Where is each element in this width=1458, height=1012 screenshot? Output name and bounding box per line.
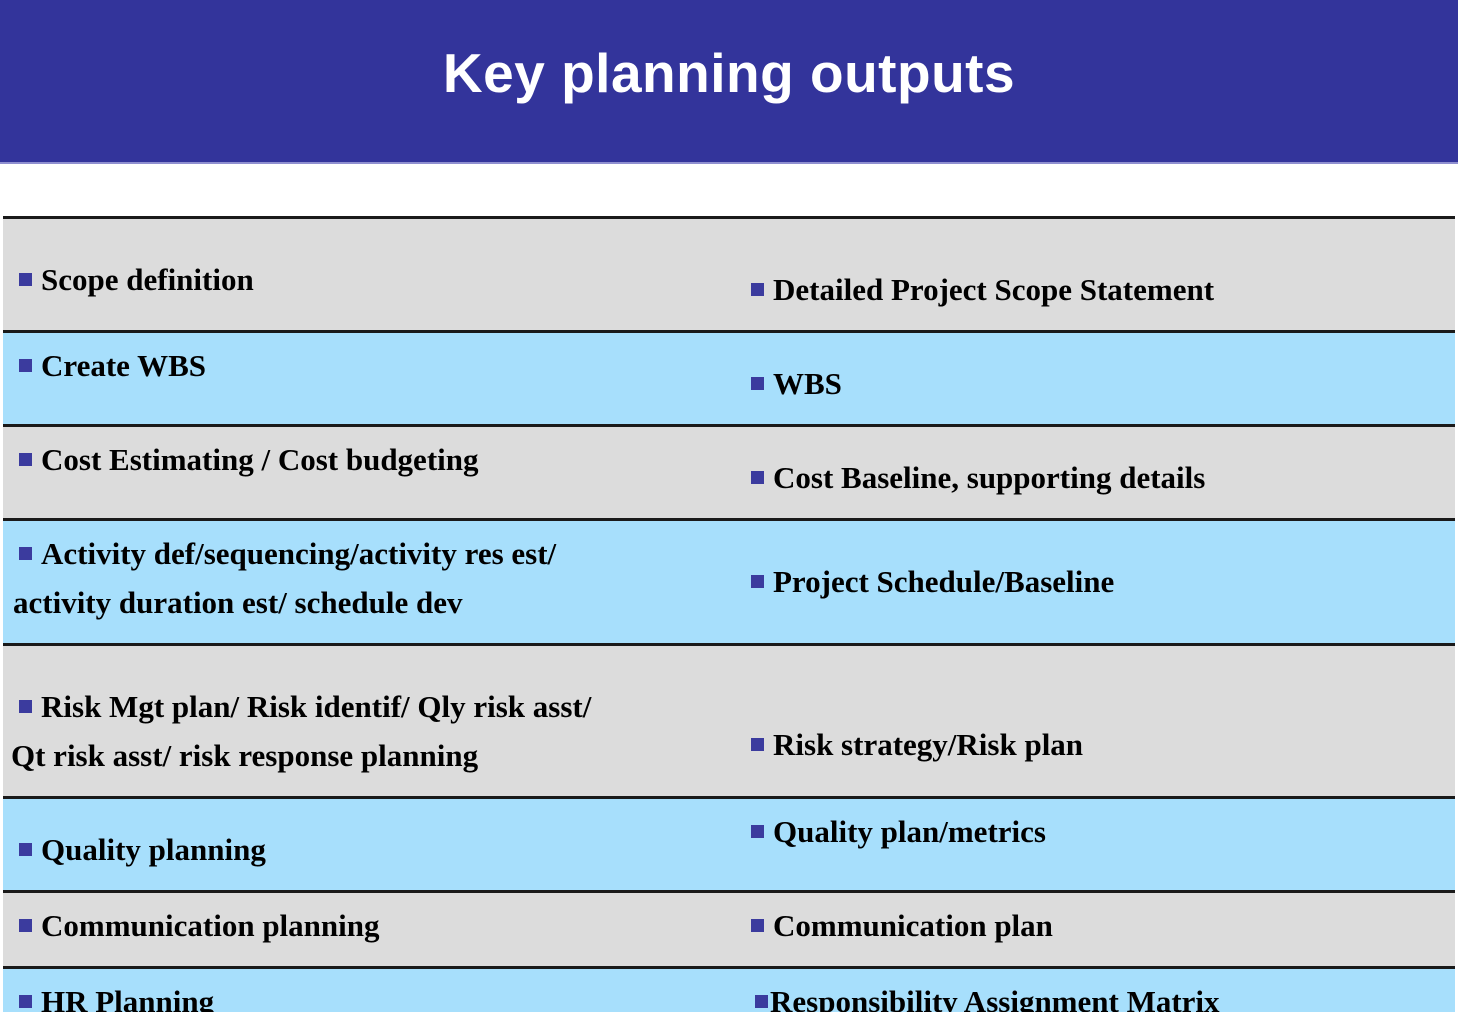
cell-line: WBS <box>773 366 842 401</box>
table-cell-process: HR Planning <box>3 968 735 1012</box>
table-body: Scope definition Detailed Project Scope … <box>3 218 1455 1012</box>
table-row: Scope definition Detailed Project Scope … <box>3 218 1455 332</box>
table-cell-process: Scope definition <box>3 218 735 332</box>
cell-line: Create WBS <box>41 348 206 383</box>
table-cell-output: WBS <box>735 332 1455 426</box>
table-cell-process: Communication planning <box>3 892 735 968</box>
square-bullet-icon <box>751 283 764 296</box>
table-cell-output: Quality plan/metrics <box>735 798 1455 892</box>
table-cell-output: Project Schedule/Baseline <box>735 520 1455 645</box>
table-cell-output: Risk strategy/Risk plan <box>735 645 1455 798</box>
table-cell-output: Communication plan <box>735 892 1455 968</box>
cell-line: HR Planning <box>41 984 214 1012</box>
table-cell-output: Responsibility Assignment Matrix <box>735 968 1455 1012</box>
cell-line: activity duration est/ schedule dev <box>13 585 463 620</box>
cell-line: Detailed Project Scope Statement <box>773 272 1214 307</box>
square-bullet-icon <box>755 995 768 1008</box>
square-bullet-icon <box>19 359 32 372</box>
square-bullet-icon <box>751 919 764 932</box>
table-cell-output: Cost Baseline, supporting details <box>735 426 1455 520</box>
cell-line: Qt risk asst/ risk response planning <box>11 738 478 773</box>
table-row: Quality planning Quality plan/metrics <box>3 798 1455 892</box>
title-banner: Key planning outputs <box>0 0 1458 164</box>
slide-root: Key planning outputs Scope definition <box>0 0 1458 1012</box>
table-row: Communication planning Communication pla… <box>3 892 1455 968</box>
square-bullet-icon <box>19 547 32 560</box>
square-bullet-icon <box>19 919 32 932</box>
table-cell-process: Quality planning <box>3 798 735 892</box>
square-bullet-icon <box>19 700 32 713</box>
table-cell-process: Activity def/sequencing/activity res est… <box>3 520 735 645</box>
table-row: Risk Mgt plan/ Risk identif/ Qly risk as… <box>3 645 1455 798</box>
table-cell-process: Risk Mgt plan/ Risk identif/ Qly risk as… <box>3 645 735 798</box>
square-bullet-icon <box>19 843 32 856</box>
table-row: Cost Estimating / Cost budgeting Cost Ba… <box>3 426 1455 520</box>
square-bullet-icon <box>751 575 764 588</box>
square-bullet-icon <box>751 738 764 751</box>
cell-line: Communication plan <box>773 908 1053 943</box>
square-bullet-icon <box>19 995 32 1008</box>
key-planning-outputs-table: Scope definition Detailed Project Scope … <box>3 216 1455 1012</box>
table-row: Create WBS WBS <box>3 332 1455 426</box>
square-bullet-icon <box>751 471 764 484</box>
cell-line: Risk Mgt plan/ Risk identif/ Qly risk as… <box>41 689 591 724</box>
cell-line: Scope definition <box>41 262 254 297</box>
cell-line: Activity def/sequencing/activity res est… <box>41 536 556 571</box>
square-bullet-icon <box>751 377 764 390</box>
square-bullet-icon <box>19 273 32 286</box>
table-cell-process: Create WBS <box>3 332 735 426</box>
square-bullet-icon <box>751 825 764 838</box>
cell-line: Responsibility Assignment Matrix <box>770 984 1220 1012</box>
table-cell-output: Detailed Project Scope Statement <box>735 218 1455 332</box>
cell-line: Communication planning <box>41 908 380 943</box>
cell-line: Cost Estimating / Cost budgeting <box>41 442 479 477</box>
page-title: Key planning outputs <box>0 40 1458 106</box>
square-bullet-icon <box>19 453 32 466</box>
cell-line: Risk strategy/Risk plan <box>773 727 1083 762</box>
table-row: Activity def/sequencing/activity res est… <box>3 520 1455 645</box>
cell-line: Quality plan/metrics <box>773 814 1046 849</box>
cell-line: Project Schedule/Baseline <box>773 564 1114 599</box>
cell-line: Cost Baseline, supporting details <box>773 460 1205 495</box>
table-row: HR Planning Responsibility Assignment Ma… <box>3 968 1455 1012</box>
cell-line: Quality planning <box>41 832 266 867</box>
table-cell-process: Cost Estimating / Cost budgeting <box>3 426 735 520</box>
